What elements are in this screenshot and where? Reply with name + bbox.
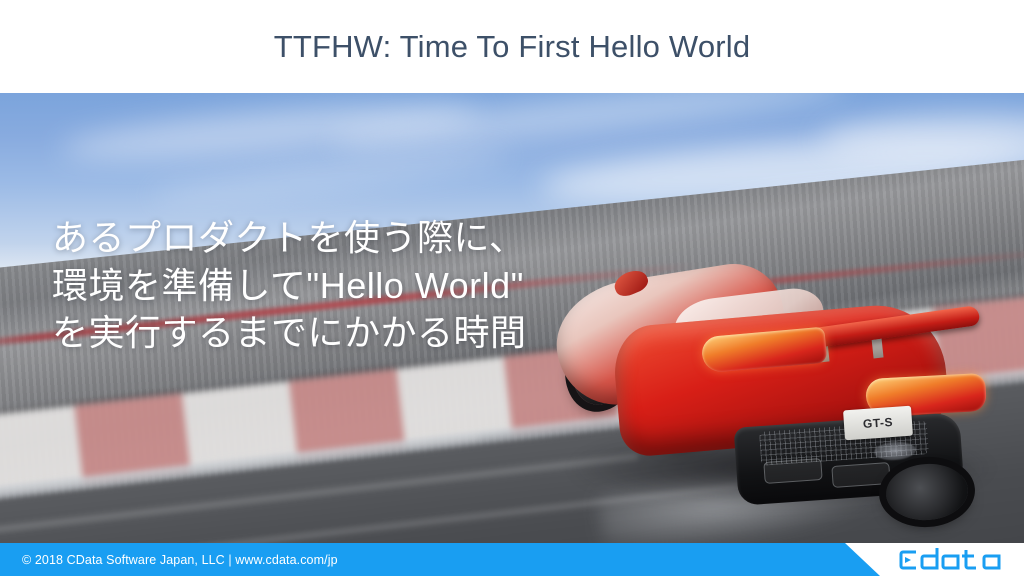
license-plate: GT-S xyxy=(843,406,913,441)
overlay-line-1: あるプロダクトを使う際に、 xyxy=(52,214,572,262)
overlay-line-2: 環境を準備して"Hello World" xyxy=(52,262,572,310)
footer: © 2018 CData Software Japan, LLC | www.c… xyxy=(0,543,1024,576)
diffuser-vent xyxy=(763,458,822,484)
cdata-logo xyxy=(896,543,1006,576)
license-plate-text: GT-S xyxy=(863,415,894,431)
cdata-logo-icon xyxy=(896,547,1006,573)
background-photo: GT-S あるプロダクトを使う際に、 環境を準備して"Hello World" … xyxy=(0,93,1024,543)
sports-car: GT-S xyxy=(556,228,1024,538)
overlay-line-3: を実行するまでにかかる時間 xyxy=(52,309,572,357)
footer-copyright: © 2018 CData Software Japan, LLC | www.c… xyxy=(22,543,338,576)
page-title: TTFHW: Time To First Hello World xyxy=(274,29,751,65)
diffuser-vent xyxy=(831,462,890,488)
overlay-text-block: あるプロダクトを使う際に、 環境を準備して"Hello World" を実行する… xyxy=(52,214,572,357)
slide: TTFHW: Time To First Hello World xyxy=(0,0,1024,576)
title-band: TTFHW: Time To First Hello World xyxy=(0,0,1024,93)
